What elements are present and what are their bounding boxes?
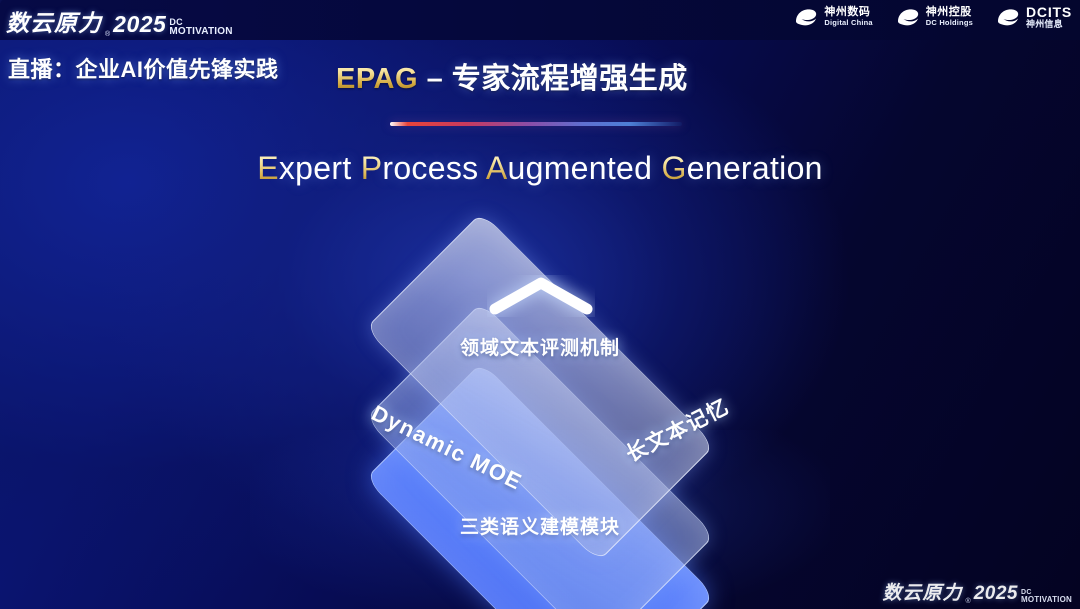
brand-logo-motivation: MOTIVATION: [169, 27, 232, 37]
page-title: EPAG – 专家流程增强生成: [336, 55, 688, 97]
page-title-subtitle: – 专家流程增强生成: [427, 63, 688, 95]
subtitle-part-7: eneration: [687, 150, 823, 186]
diagram-layer-middle-label-right: 长文本记忆: [620, 391, 734, 469]
corporate-logo-group: 神州数码 Digital China 神州控股 DC Holdings: [793, 5, 1072, 29]
brand-logo: 数云原力® 2025 DC MOTIVATION: [6, 4, 233, 38]
watermark-logo: 数云原力® 2025 DC MOTIVATION: [883, 578, 1073, 605]
corp-logo-dc-holdings: 神州控股 DC Holdings: [895, 6, 973, 28]
corp-logo-digital-china: 神州数码 Digital China: [793, 6, 872, 28]
subtitle-part-3: rocess: [382, 150, 485, 186]
subtitle-part-2: P: [361, 150, 383, 186]
watermark-logo-cn: 数云原力: [883, 578, 963, 605]
diagram-layer-bottom-label: 三类语义建模模块: [0, 512, 1080, 539]
diagram-layer-top-label: 领域文本评测机制: [0, 333, 1080, 360]
watermark-logo-dc-motivation: DC MOTIVATION: [1021, 590, 1072, 604]
swirl-icon: [793, 6, 819, 28]
subtitle-part-4: A: [486, 150, 508, 186]
subtitle-part-5: ugmented: [508, 150, 662, 186]
diagram-layer-middle-plate: [365, 302, 715, 609]
diagram-layer-top: [375, 222, 705, 552]
swirl-icon: [895, 6, 921, 28]
diagram-layer-top-plate: [365, 212, 715, 562]
diagram-layer-middle: [375, 312, 705, 609]
diagram-glow: [250, 430, 830, 609]
corp-name-en: Digital China: [824, 19, 872, 27]
watermark-logo-year: 2025: [974, 583, 1018, 605]
corp-name-cn: DCITS: [1026, 5, 1072, 20]
watermark-logo-registered: ®: [966, 598, 971, 605]
swirl-icon: [995, 6, 1021, 28]
corp-name-en: 神州信息: [1026, 20, 1072, 29]
brand-logo-year: 2025: [113, 11, 166, 38]
slide-canvas: 数云原力® 2025 DC MOTIVATION 神州数码 Digital Ch…: [0, 0, 1080, 609]
diagram-layer-middle-label-left: Dynamic MOE: [367, 400, 526, 495]
brand-logo-dc-motivation: DC MOTIVATION: [169, 18, 232, 36]
chevron-up-icon: [487, 275, 595, 317]
subtitle-part-6: G: [661, 150, 686, 186]
title-divider: [390, 122, 682, 126]
diagram-layer-bottom: [375, 372, 705, 609]
brand-logo-registered: ®: [105, 31, 110, 38]
corp-name-en: DC Holdings: [926, 19, 973, 27]
subtitle-part-1: xpert: [279, 150, 361, 186]
watermark-logo-motivation: MOTIVATION: [1021, 596, 1072, 604]
brand-logo-cn: 数云原力: [6, 4, 102, 38]
english-subtitle: Expert Process Augmented Generation: [0, 150, 1080, 187]
live-stream-title: 直播：企业AI价值先锋实践: [8, 52, 279, 84]
corp-logo-dcits: DCITS 神州信息: [995, 5, 1072, 29]
subtitle-part-0: E: [257, 150, 279, 186]
diagram-layer-bottom-plate: [365, 362, 715, 609]
page-title-acronym: EPAG: [336, 63, 418, 95]
